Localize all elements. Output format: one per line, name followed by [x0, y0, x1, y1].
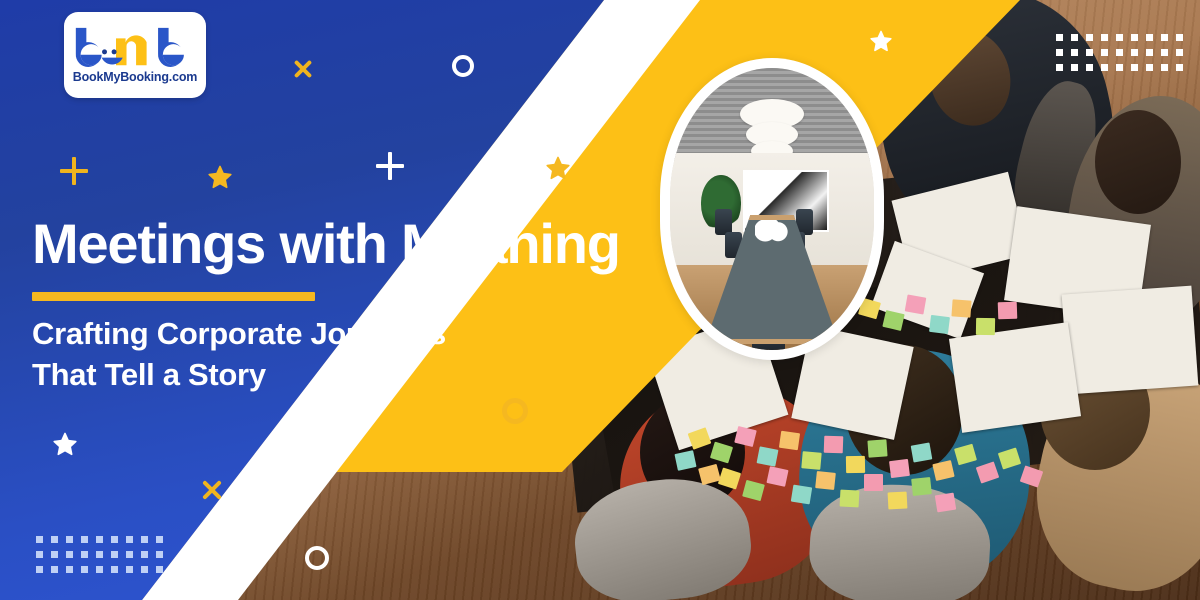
x-white-triangle-icon — [618, 26, 642, 50]
x-yellow-low-icon — [200, 478, 224, 502]
sticky-note — [889, 459, 910, 478]
sticky-note — [905, 294, 927, 314]
sticky-note — [815, 471, 836, 490]
sticky-note — [888, 492, 908, 510]
sticky-note — [846, 456, 865, 473]
title-underline-rule — [32, 292, 315, 301]
sticky-note — [998, 302, 1018, 320]
sticky-note — [791, 485, 812, 505]
sticky-note — [867, 439, 887, 457]
sticky-note — [935, 493, 956, 513]
page-subtitle: Crafting Corporate Journeys That Tell a … — [32, 314, 446, 396]
sticky-note — [911, 477, 932, 496]
person-glasses-head — [1095, 110, 1181, 214]
dots-top-right-icon — [1056, 34, 1183, 71]
plus-white-mid-icon — [376, 152, 404, 180]
sticky-note — [824, 436, 844, 454]
ring-white-top-icon — [452, 55, 474, 77]
star-yellow-2-icon — [546, 156, 570, 185]
star-yellow-1-icon — [208, 165, 232, 194]
sticky-note — [951, 299, 971, 317]
dots-bottom-left-icon — [36, 536, 163, 573]
sticky-note — [766, 466, 788, 487]
x-yellow-top-icon — [292, 58, 314, 80]
page-title: Meetings with Meaning — [32, 216, 620, 272]
sticky-note — [864, 474, 883, 491]
sticky-note — [757, 446, 779, 466]
document-sheet — [949, 322, 1081, 433]
brand-wordmark: BookMyBooking.com — [73, 71, 197, 84]
subtitle-line-1: Crafting Corporate Journeys — [32, 314, 446, 355]
flower-vase — [755, 220, 789, 246]
document-sheet — [1062, 286, 1199, 395]
brand-logo[interactable]: BookMyBooking.com — [64, 12, 206, 98]
star-white-left-icon — [53, 432, 77, 461]
conference-room-photo — [670, 68, 874, 350]
ring-white-low-icon — [305, 546, 329, 570]
sticky-note — [911, 442, 933, 462]
subtitle-line-2: That Tell a Story — [32, 355, 446, 396]
sticky-note — [840, 490, 860, 508]
ring-yellow-low-icon — [502, 398, 528, 424]
sticky-note — [779, 431, 800, 450]
star-white-top-icon — [870, 30, 892, 57]
sticky-note — [976, 318, 995, 335]
plus-yellow-left-icon — [60, 157, 88, 185]
sticky-note — [929, 315, 950, 334]
bmb-logo-icon — [72, 26, 198, 70]
promotional-banner: BookMyBooking.com Meetings with Meaning … — [0, 0, 1200, 600]
sticky-note — [801, 451, 821, 470]
conference-room-photo-frame — [660, 58, 884, 360]
star-white-mid-icon — [348, 414, 368, 439]
